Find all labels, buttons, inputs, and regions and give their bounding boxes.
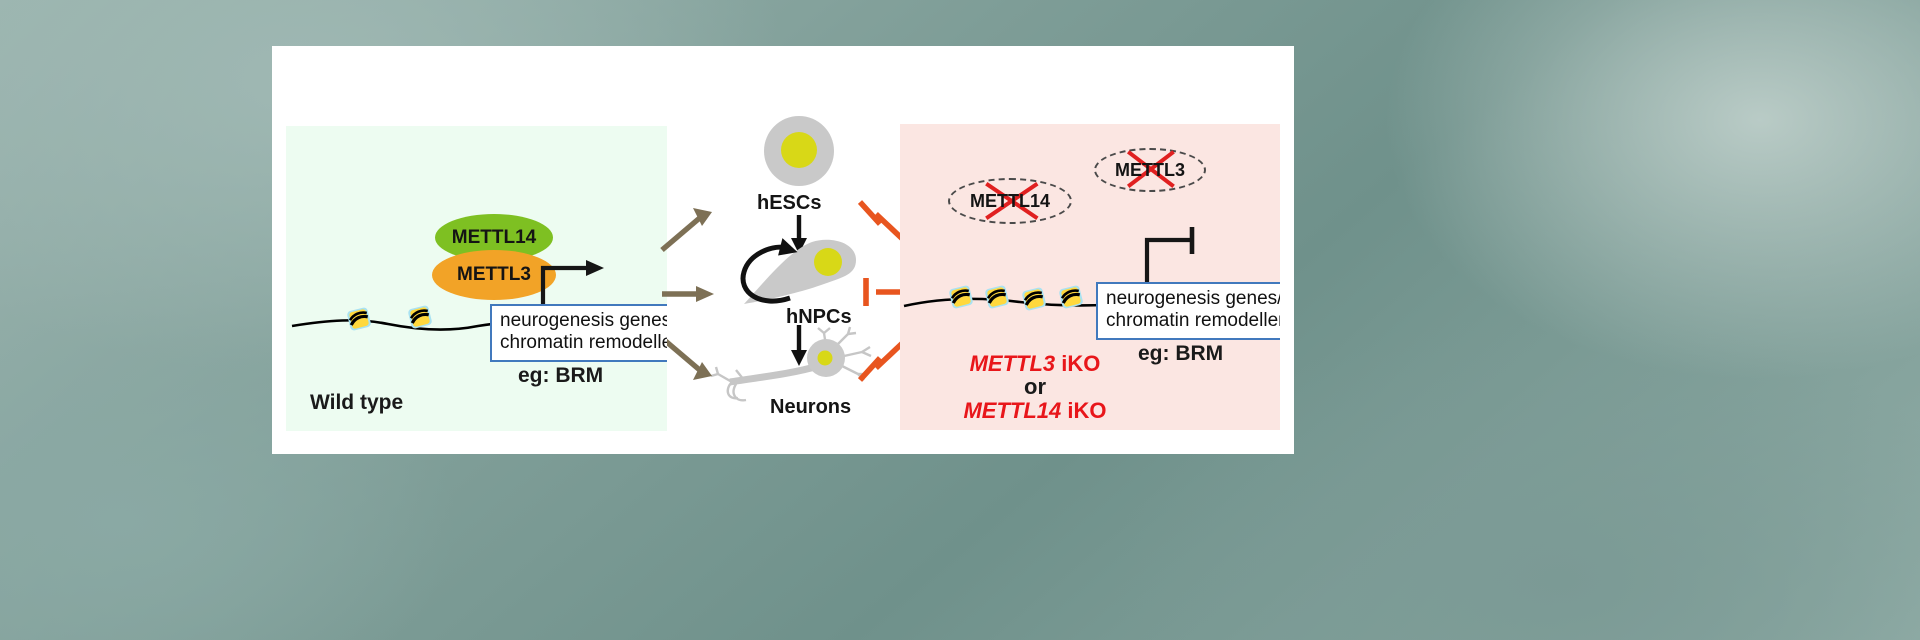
panel-label-knockout: METTL3 iKO or METTL14 iKO: [910, 352, 1160, 422]
stage-label-hescs: hESCs: [757, 192, 821, 215]
gene-box-knockout: neurogenesis genes/ chromatin remodeller: [1096, 282, 1280, 340]
gene-box-line-1: neurogenesis genes/: [1106, 288, 1280, 310]
ko-protein-label: METTL14: [970, 191, 1050, 212]
panel-wild-type: METTL14 METTL3 neurogenesis genes/ chrom…: [286, 126, 667, 431]
gene-box-line-1: neurogenesis genes/: [500, 310, 667, 332]
knocked-out-protein-mettl14: METTL14: [948, 178, 1072, 224]
example-gene-label-wild-type: eg: BRM: [518, 364, 603, 388]
gene-box-line-2: chromatin remodeller: [500, 332, 667, 354]
panel-label-wild-type: Wild type: [310, 391, 403, 415]
ko-condition-or: or: [910, 375, 1160, 398]
ko-condition-line-3: METTL14 iKO: [910, 399, 1160, 422]
panel-knockout: METTL14 METTL3: [900, 124, 1280, 430]
page-backdrop: METTL14 METTL3 neurogenesis genes/ chrom…: [0, 0, 1920, 640]
nucleosome-icon: [982, 282, 1012, 312]
activation-connector-arrows: [660, 204, 740, 384]
ko-protein-label: METTL3: [1115, 160, 1185, 181]
stage-label-neurons: Neurons: [770, 396, 851, 419]
gene-box-wild-type: neurogenesis genes/ chromatin remodeller: [490, 304, 667, 362]
knocked-out-protein-mettl3: METTL3: [1094, 148, 1206, 192]
nucleosome-icon: [1019, 284, 1049, 314]
nucleosome-icon: [344, 304, 374, 334]
nucleosome-icon: [946, 282, 976, 312]
ko-gene-1: METTL3: [970, 351, 1056, 376]
nucleosome-icon: [1056, 282, 1086, 312]
transcription-repression-arrow: [1142, 228, 1222, 288]
nucleosome-icon: [405, 302, 435, 332]
ko-suffix-1: iKO: [1055, 351, 1100, 376]
hesc-cell-icon: [762, 114, 836, 188]
figure-canvas: METTL14 METTL3 neurogenesis genes/ chrom…: [272, 46, 1294, 454]
ko-condition-line-1: METTL3 iKO: [910, 352, 1160, 375]
example-gene-label-knockout: eg: BRM: [1138, 342, 1223, 366]
gene-box-line-2: chromatin remodeller: [1106, 310, 1280, 332]
ko-gene-2: METTL14: [963, 398, 1061, 423]
ko-suffix-2: iKO: [1061, 398, 1106, 423]
